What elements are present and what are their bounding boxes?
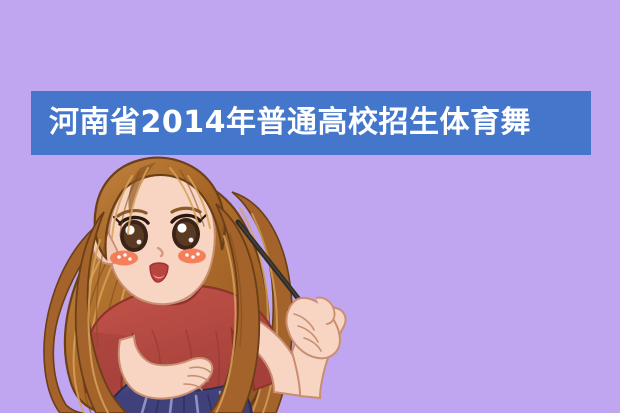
- title-band: 河南省2014年普通高校招生体育舞: [31, 91, 591, 155]
- article-header-banner: 河南省2014年普通高校招生体育舞: [0, 0, 620, 413]
- illustration-cartoon-teacher: [0, 0, 620, 413]
- page-title: 河南省2014年普通高校招生体育舞: [49, 108, 531, 138]
